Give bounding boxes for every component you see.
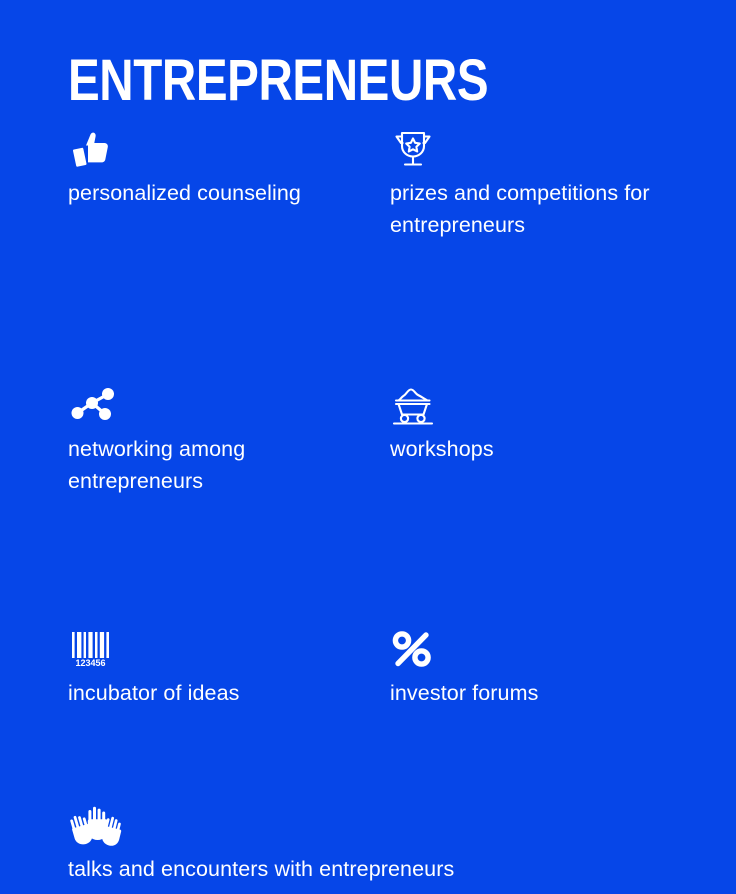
slide-root: ENTREPRENEURS personalized counseling — [0, 0, 736, 631]
services-row: 123456 incubator of ideas investor for — [0, 628, 736, 716]
service-item-workshops[interactable]: workshops — [390, 384, 710, 466]
services-row: networking among entrepreneurs workshops — [0, 384, 736, 506]
service-item-label: personalized counseling — [68, 178, 388, 210]
barcode-icon: 123456 — [68, 628, 388, 672]
network-nodes-icon — [68, 384, 388, 428]
services-grid: personalized counseling prizes and compe… — [0, 128, 736, 556]
service-item-label: investor forums — [390, 678, 710, 710]
service-item-investor-forums[interactable]: investor forums — [390, 628, 710, 710]
barcode-digits: 123456 — [75, 658, 105, 668]
mine-cart-icon — [390, 384, 710, 428]
percent-icon — [390, 628, 710, 672]
services-row: personalized counseling prizes and compe… — [0, 128, 736, 256]
service-item-label: talks and encounters with entrepreneurs — [68, 854, 668, 886]
service-item-label: workshops — [390, 434, 710, 466]
trophy-icon — [390, 128, 710, 172]
service-item-talks-and-encounters[interactable]: talks and encounters with entrepreneurs — [68, 804, 668, 886]
service-item-personalized-counseling[interactable]: personalized counseling — [68, 128, 388, 210]
thumbs-up-icon — [68, 128, 388, 172]
page-title: ENTREPRENEURS — [68, 52, 488, 110]
service-item-incubator-of-ideas[interactable]: 123456 incubator of ideas — [68, 628, 388, 710]
service-item-label: incubator of ideas — [68, 678, 388, 710]
service-item-label: prizes and competitions for entrepreneur… — [390, 178, 710, 242]
service-item-prizes-and-competitions[interactable]: prizes and competitions for entrepreneur… — [390, 128, 710, 242]
services-row: talks and encounters with entrepreneurs — [0, 804, 736, 894]
raised-hands-icon — [68, 804, 668, 848]
service-item-networking[interactable]: networking among entrepreneurs — [68, 384, 388, 498]
service-item-label: networking among entrepreneurs — [68, 434, 388, 498]
